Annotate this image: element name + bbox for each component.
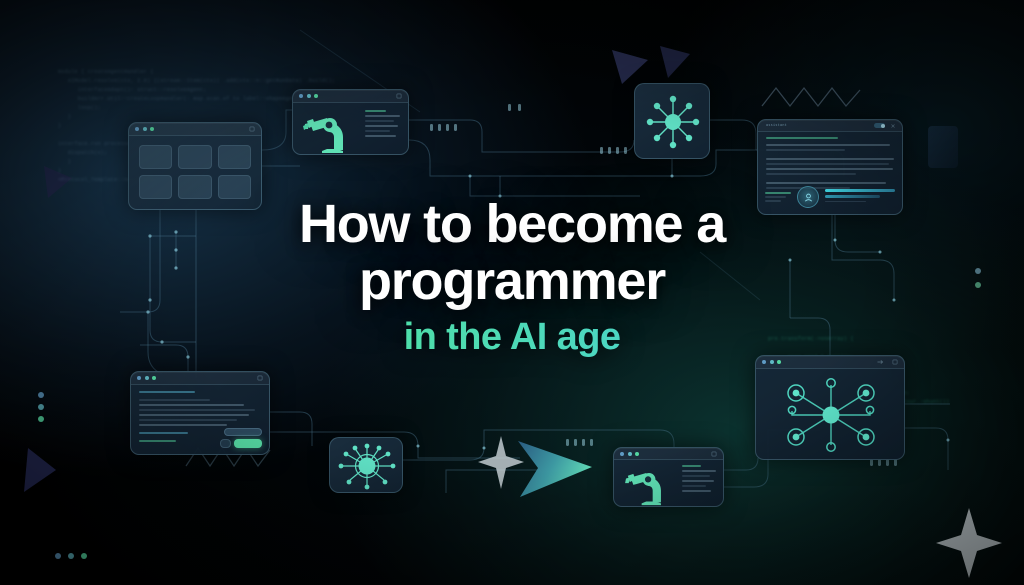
window-traffic-lights[interactable] xyxy=(137,376,156,380)
square-icon[interactable] xyxy=(257,375,263,381)
robot-arm-icon xyxy=(620,461,678,507)
hero-text-block: How to become a programmer in the AI age xyxy=(0,196,1024,359)
purple-triangle-bottom-left xyxy=(24,448,56,492)
titlebar[interactable] xyxy=(293,90,408,103)
app-tile[interactable] xyxy=(139,145,172,169)
neural-radial-icon xyxy=(330,438,404,494)
zigzag-top-right xyxy=(762,88,860,106)
editor-action-row xyxy=(220,428,262,448)
app-tile[interactable] xyxy=(178,145,211,169)
page-subtitle: in the AI age xyxy=(0,316,1024,359)
sparkle-bottom-right-icon xyxy=(936,508,1002,578)
window-traffic-lights[interactable] xyxy=(620,452,639,456)
app-tile[interactable] xyxy=(218,145,251,169)
assistant-window-title: assistant xyxy=(766,124,787,128)
sparkle-center-icon xyxy=(478,436,524,489)
purple-triangle-top-left xyxy=(612,50,648,84)
page-title: How to become a programmer xyxy=(0,196,1024,310)
neural-hub-icon xyxy=(635,84,711,160)
robot-window-text-lines xyxy=(682,465,716,495)
arrow-right-icon[interactable] xyxy=(876,359,885,365)
robot-arm-icon xyxy=(299,105,361,155)
dot-blue xyxy=(55,553,61,559)
dot-group-left-vertical xyxy=(38,392,44,422)
square-icon[interactable] xyxy=(396,93,402,99)
titlebar[interactable]: assistant xyxy=(758,120,902,132)
dot-green xyxy=(81,553,87,559)
primary-button-row xyxy=(220,439,262,448)
dot-green xyxy=(38,416,44,422)
ghost-button[interactable] xyxy=(220,439,231,448)
robot-arm-window-bottom[interactable] xyxy=(613,447,724,507)
app-tile-grid[interactable] xyxy=(139,145,251,199)
window-traffic-lights[interactable] xyxy=(299,94,318,98)
dot-cyan xyxy=(68,553,74,559)
window-traffic-lights[interactable] xyxy=(762,360,781,364)
network-graph-window[interactable] xyxy=(755,355,905,460)
dot-group-bottom-left xyxy=(55,553,87,559)
close-icon[interactable] xyxy=(890,123,896,129)
primary-button[interactable] xyxy=(234,439,262,448)
hero-banner: module { createAgentHandler { AIModel.re… xyxy=(0,0,1024,585)
gradient-arrow-icon xyxy=(518,441,592,497)
robot-arm-window-top[interactable] xyxy=(292,89,409,155)
robot-window-text-lines xyxy=(365,110,400,140)
hub-node-card-top[interactable] xyxy=(634,83,710,159)
close-icon[interactable] xyxy=(892,359,898,365)
network-graph[interactable] xyxy=(756,369,905,460)
code-editor-window[interactable] xyxy=(130,371,270,455)
dot-blue xyxy=(38,392,44,398)
dot-cyan xyxy=(38,404,44,410)
assistant-content xyxy=(766,137,894,192)
titlebar[interactable] xyxy=(131,372,269,385)
square-icon[interactable] xyxy=(249,126,255,132)
hub-node-card-bottom[interactable] xyxy=(329,437,403,493)
progress-bar-primary xyxy=(825,189,895,192)
title-line-2: programmer xyxy=(0,253,1024,310)
titlebar[interactable] xyxy=(129,123,261,136)
secondary-button[interactable] xyxy=(224,428,262,436)
titlebar[interactable] xyxy=(614,448,723,460)
faint-square-decoration xyxy=(928,126,958,168)
title-line-1: How to become a xyxy=(0,196,1024,253)
window-traffic-lights[interactable] xyxy=(135,127,154,131)
toggle-switch[interactable] xyxy=(874,123,885,128)
square-icon[interactable] xyxy=(711,451,717,457)
purple-triangle-top-right xyxy=(660,46,690,78)
